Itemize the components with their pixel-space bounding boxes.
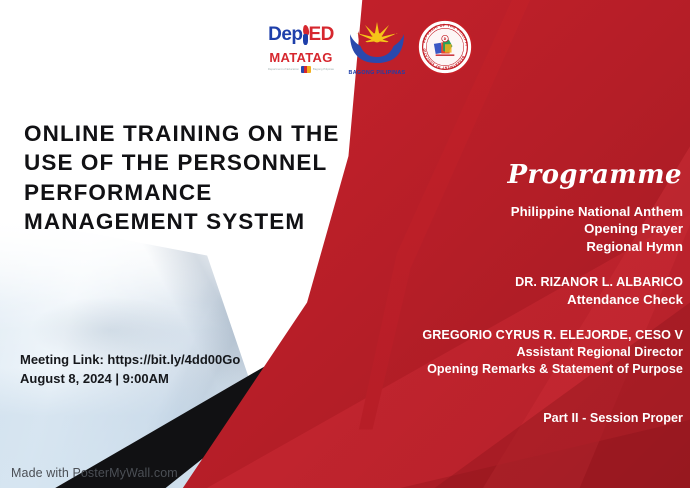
programme-item: Opening Prayer — [333, 220, 683, 237]
programme-item: Philippine National Anthem — [333, 203, 683, 220]
logo-row: Dep ED MATATAG Department of Education B… — [265, 11, 477, 83]
seal-icon: REPUBLIC OF THE PHILIPPINES DEPARTMENT O… — [417, 19, 473, 75]
programme-item: Attendance Check — [333, 291, 683, 308]
deped-subtitle-row: Department of Education Bagong Pilipinas — [268, 66, 334, 73]
programme-title: Programme — [382, 160, 682, 190]
deped-subtitle-right: Bagong Pilipinas — [313, 68, 334, 71]
programme-group: Philippine National Anthem Opening Praye… — [333, 203, 683, 255]
deped-subtitle-left: Department of Education — [268, 68, 299, 71]
svg-text:D: D — [444, 37, 447, 41]
bagong-pilipinas-logo: BAGONG PILIPINAS — [344, 16, 410, 78]
programme-group: GREGORIO CYRUS R. ELEJORDE, CESO V Assis… — [333, 327, 683, 377]
programme-speaker: DR. RIZANOR L. ALBARICO — [333, 274, 683, 291]
page-title: ONLINE TRAINING ON THE USE OF THE PERSON… — [24, 119, 384, 236]
meeting-link[interactable]: Meeting Link: https://bit.ly/4dd00Go — [20, 351, 350, 370]
programme-list: Philippine National Anthem Opening Praye… — [333, 203, 683, 396]
deped-matatag-text: MATATAG — [269, 51, 332, 64]
programme-item: Opening Remarks & Statement of Purpose — [333, 361, 683, 378]
meeting-info: Meeting Link: https://bit.ly/4dd00Go Aug… — [20, 351, 350, 389]
programme-item: Regional Hymn — [333, 238, 683, 255]
bp-swoosh-icon — [347, 30, 407, 64]
deped-logo: Dep ED MATATAG Department of Education B… — [265, 16, 337, 78]
programme-speaker: GREGORIO CYRUS R. ELEJORDE, CESO V — [333, 327, 683, 344]
bagong-pilipinas-label: BAGONG PILIPINAS — [344, 70, 410, 76]
deped-dep-text: Dep — [268, 25, 302, 44]
poster-canvas: Dep ED MATATAG Department of Education B… — [0, 0, 690, 488]
regional-seal-logo: REPUBLIC OF THE PHILIPPINES DEPARTMENT O… — [417, 19, 473, 75]
programme-part-two: Part II - Session Proper — [333, 411, 683, 425]
programme-group: DR. RIZANOR L. ALBARICO Attendance Check — [333, 274, 683, 308]
philippine-flag-icon — [301, 66, 311, 73]
programme-role: Assistant Regional Director — [333, 344, 683, 361]
deped-ed-text: ED — [309, 25, 334, 44]
postermywall-watermark: Made with PosterMyWall.com — [11, 466, 178, 480]
deped-wordmark: Dep ED — [268, 22, 334, 48]
deped-torch-icon — [302, 25, 310, 45]
meeting-datetime: August 8, 2024 | 9:00AM — [20, 370, 350, 389]
